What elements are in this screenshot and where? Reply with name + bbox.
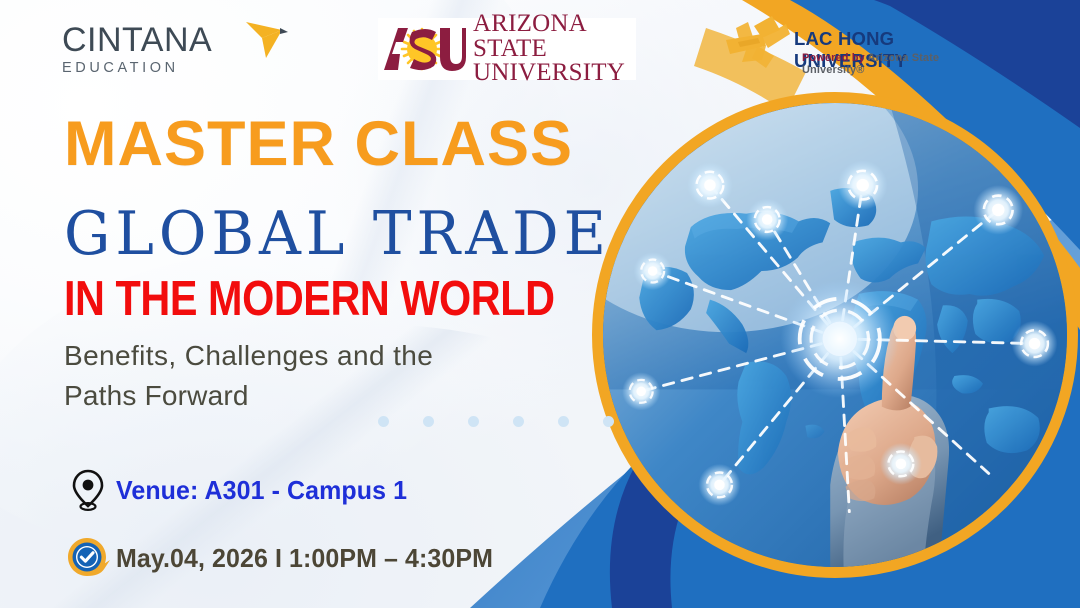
eyebrow-master-class: MASTER CLASS xyxy=(64,112,624,176)
asu-wordmark: ARIZONA STATE UNIVERSITY xyxy=(473,12,632,86)
lac-hong-logo: LAC HONG UNIVERSITY Powered by Arizona S… xyxy=(718,14,973,80)
global-network-touchscreen-photo xyxy=(603,103,1067,567)
event-details: Venue: A301 - Campus 1 May.04, 2026 I 1:… xyxy=(60,462,580,586)
decorative-dot xyxy=(468,416,479,427)
venue-text: Venue: A301 - Campus 1 xyxy=(116,475,407,506)
page-title-global-trade: GLOBAL TRADE xyxy=(64,202,624,264)
decorative-dot xyxy=(603,416,614,427)
asu-sunburst-icon xyxy=(382,26,466,72)
decorative-dot xyxy=(378,416,389,427)
venue-row: Venue: A301 - Campus 1 xyxy=(60,462,580,518)
decorative-dot xyxy=(558,416,569,427)
tagline-line-2: Paths Forward xyxy=(64,376,554,416)
logo-row: CINTANA EDUCATION xyxy=(0,0,1080,95)
lac-hong-star-icon xyxy=(718,16,804,74)
powered-prefix: Powered by xyxy=(802,52,868,64)
cintana-tagline: EDUCATION xyxy=(62,60,272,76)
headline-block: MASTER CLASS GLOBAL TRADE IN THE MODERN … xyxy=(64,112,624,416)
hero-image-circle xyxy=(592,92,1078,578)
tagline-line-1: Benefits, Challenges and the xyxy=(64,336,554,376)
date-row: May.04, 2026 I 1:00PM – 4:30PM xyxy=(60,530,580,586)
decorative-dot xyxy=(513,416,524,427)
lac-hong-powered-by: Powered by Arizona State University® xyxy=(802,52,973,76)
asu-line-1: ARIZONA STATE xyxy=(473,12,632,61)
cintana-wordmark: CINTANA xyxy=(62,22,272,58)
asu-line-2: UNIVERSITY xyxy=(473,61,632,86)
decorative-dot-strip xyxy=(378,416,614,427)
cintana-logo: CINTANA EDUCATION xyxy=(62,22,272,84)
calendar-check-badge-icon xyxy=(66,536,110,580)
date-text: May.04, 2026 I 1:00PM – 4:30PM xyxy=(116,543,493,574)
date-icon-wrap xyxy=(60,536,116,580)
hero-image-inner xyxy=(603,103,1067,567)
subtitle-modern-world: IN THE MODERN WORLD xyxy=(64,273,568,324)
cintana-arrow-icon xyxy=(242,18,288,62)
venue-icon-wrap xyxy=(60,468,116,512)
asu-logo: ARIZONA STATE UNIVERSITY xyxy=(378,18,636,80)
location-pin-icon xyxy=(70,468,106,512)
tagline-block: Benefits, Challenges and the Paths Forwa… xyxy=(64,336,554,416)
decorative-dot xyxy=(423,416,434,427)
poster-canvas: CINTANA EDUCATION xyxy=(0,0,1080,608)
